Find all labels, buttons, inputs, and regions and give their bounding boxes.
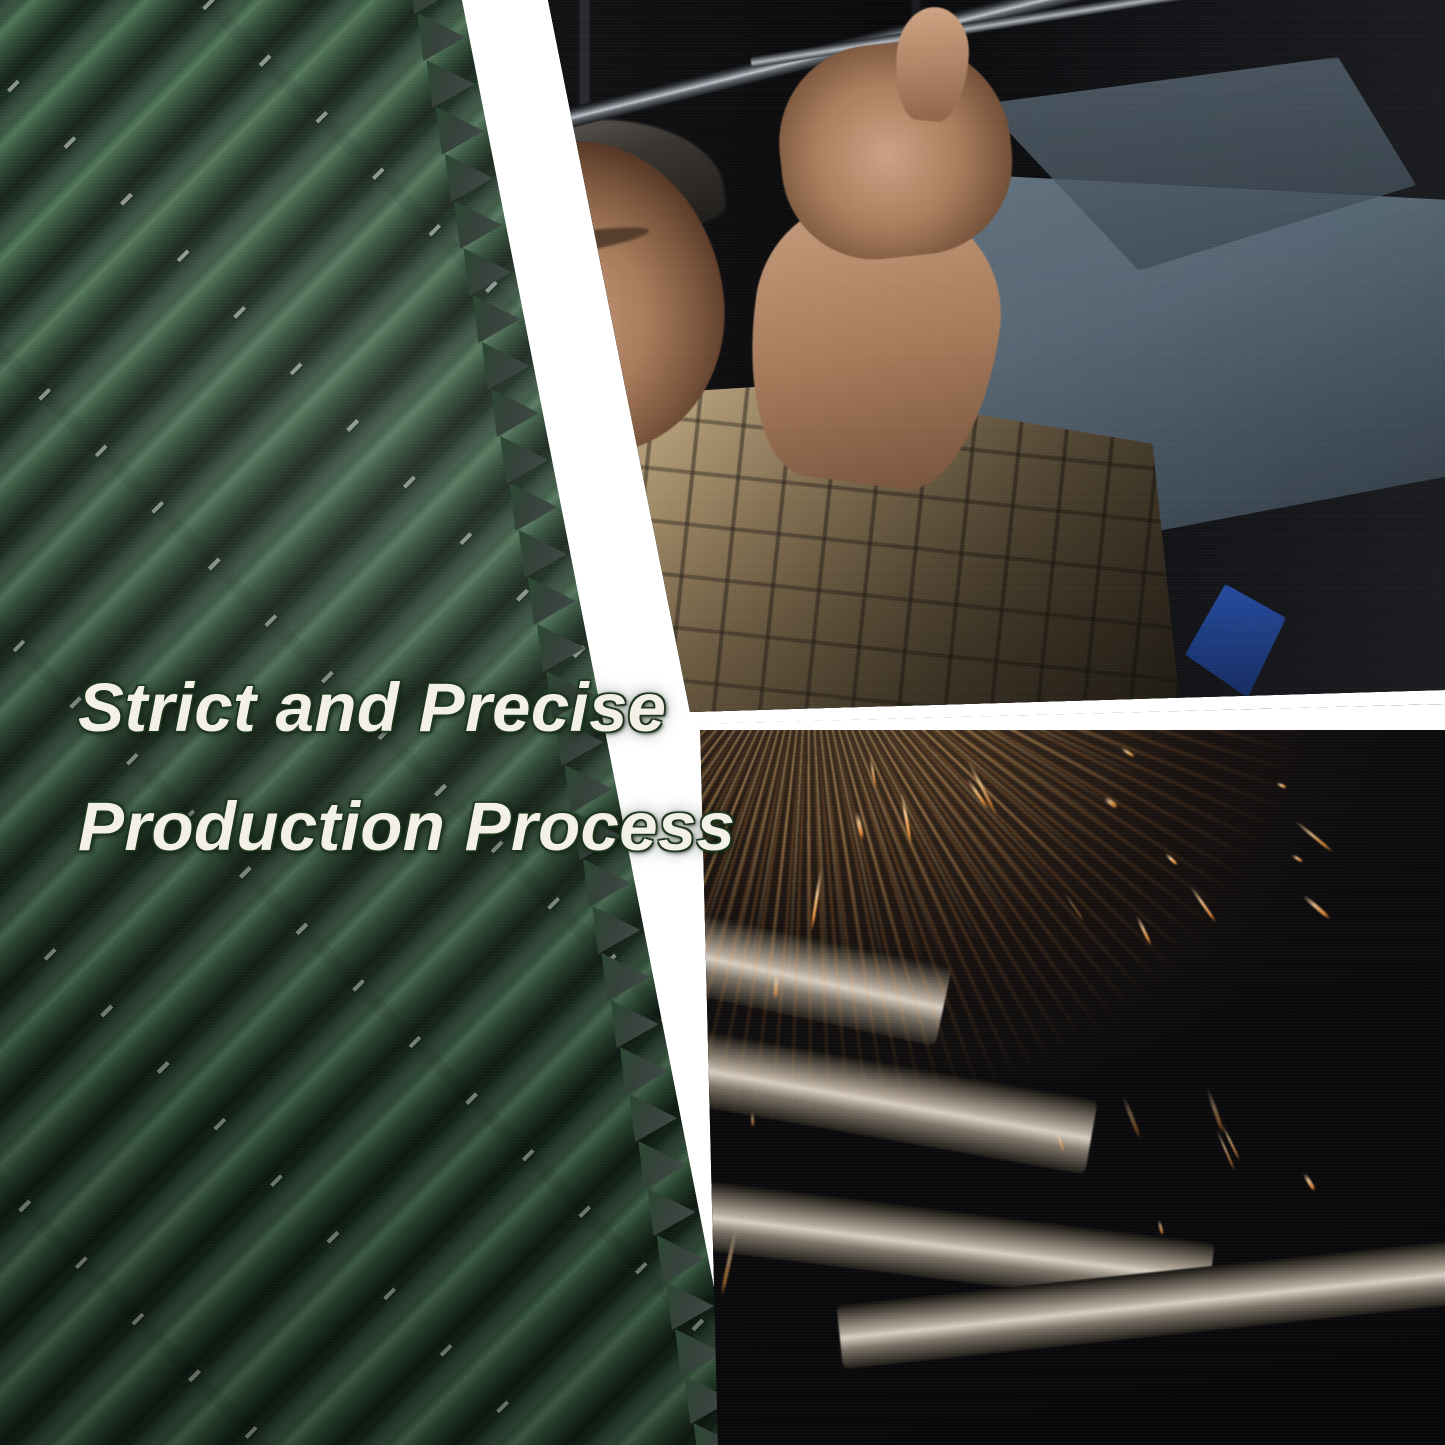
product-feature-collage: Strict and Precise Production Process: [0, 0, 1445, 1445]
